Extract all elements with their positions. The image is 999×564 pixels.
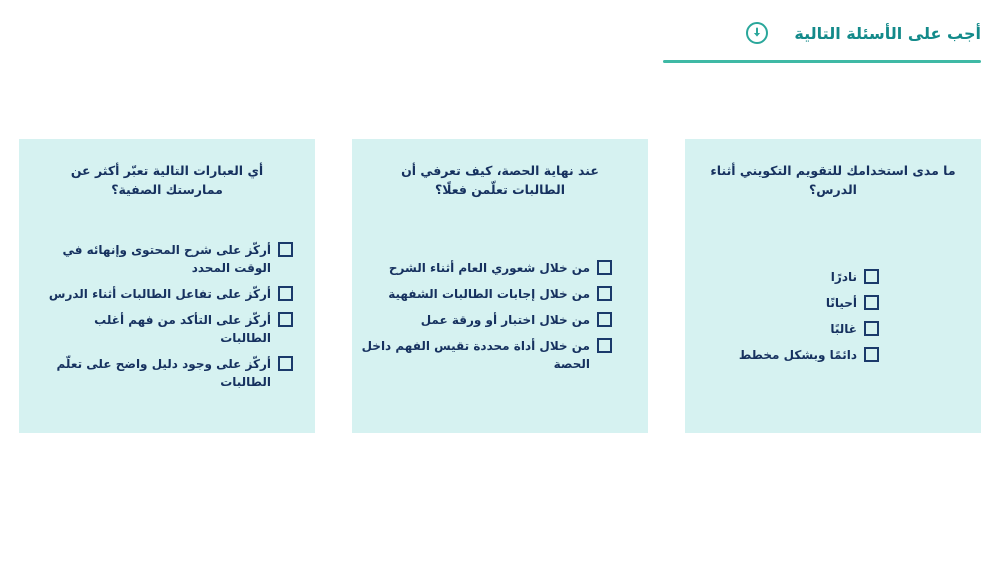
checkbox-icon[interactable] bbox=[597, 312, 612, 327]
circle-down-arrow-icon[interactable] bbox=[746, 22, 768, 44]
checkbox-icon[interactable] bbox=[864, 321, 879, 336]
option-row[interactable]: من خلال اختبار أو ورقة عمل bbox=[360, 311, 612, 329]
question-text: عند نهاية الحصة، كيف تعرفي أن الطالبات ت… bbox=[374, 161, 626, 200]
option-row[interactable]: من خلال إجابات الطالبات الشفهية bbox=[360, 285, 612, 303]
option-label: غالبًا bbox=[830, 320, 857, 338]
option-row[interactable]: دائمًا وبشكل مخطط bbox=[627, 346, 879, 364]
option-row[interactable]: أركّز على وجود دليل واضح على تعلّم الطال… bbox=[41, 355, 293, 391]
option-row[interactable]: غالبًا bbox=[627, 320, 879, 338]
option-row[interactable]: من خلال شعوري العام أثناء الشرح bbox=[360, 259, 612, 277]
option-row[interactable]: أركّز على تفاعل الطالبات أثناء الدرس bbox=[41, 285, 293, 303]
checkbox-icon[interactable] bbox=[278, 356, 293, 371]
option-label: من خلال اختبار أو ورقة عمل bbox=[360, 311, 590, 329]
option-label: أحيانًا bbox=[826, 294, 857, 312]
options-list: نادرًا أحيانًا غالبًا دائمًا وبشكل مخطط bbox=[627, 268, 959, 364]
question-cards-row: ما مدى استخدامك للتقويم التكويني أثناء ا… bbox=[19, 139, 981, 433]
checkbox-icon[interactable] bbox=[278, 286, 293, 301]
option-row[interactable]: أحيانًا bbox=[627, 294, 879, 312]
option-label: نادرًا bbox=[831, 268, 857, 286]
option-label: أركّز على التأكد من فهم أغلب الطالبات bbox=[41, 311, 271, 347]
options-list: من خلال شعوري العام أثناء الشرح من خلال … bbox=[360, 259, 626, 373]
checkbox-icon[interactable] bbox=[864, 269, 879, 284]
question-card-evidence: عند نهاية الحصة، كيف تعرفي أن الطالبات ت… bbox=[352, 139, 648, 433]
question-card-practice: أي العبارات التالية تعبّر أكثر عن ممارست… bbox=[19, 139, 315, 433]
option-label: دائمًا وبشكل مخطط bbox=[739, 346, 857, 364]
checkbox-icon[interactable] bbox=[597, 260, 612, 275]
option-label: أركّز على تفاعل الطالبات أثناء الدرس bbox=[41, 285, 271, 303]
checkbox-icon[interactable] bbox=[278, 242, 293, 257]
checkbox-icon[interactable] bbox=[278, 312, 293, 327]
option-row[interactable]: نادرًا bbox=[627, 268, 879, 286]
checkbox-icon[interactable] bbox=[597, 338, 612, 353]
header-divider bbox=[663, 60, 981, 63]
option-row[interactable]: من خلال أداة محددة تقيس الفهم داخل الحصة bbox=[360, 337, 612, 373]
checkbox-icon[interactable] bbox=[864, 295, 879, 310]
question-card-scale: ما مدى استخدامك للتقويم التكويني أثناء ا… bbox=[685, 139, 981, 433]
question-text: أي العبارات التالية تعبّر أكثر عن ممارست… bbox=[41, 161, 293, 200]
question-text: ما مدى استخدامك للتقويم التكويني أثناء ا… bbox=[707, 161, 959, 200]
option-label: أركّز على وجود دليل واضح على تعلّم الطال… bbox=[41, 355, 271, 391]
option-label: من خلال شعوري العام أثناء الشرح bbox=[360, 259, 590, 277]
option-row[interactable]: أركّز على التأكد من فهم أغلب الطالبات bbox=[41, 311, 293, 347]
checkbox-icon[interactable] bbox=[597, 286, 612, 301]
checkbox-icon[interactable] bbox=[864, 347, 879, 362]
options-list: أركّز على شرح المحتوى وإنهائه في الوقت ا… bbox=[41, 241, 293, 391]
page-title: أجب على الأسئلة التالية bbox=[794, 24, 981, 43]
option-label: من خلال أداة محددة تقيس الفهم داخل الحصة bbox=[360, 337, 590, 373]
option-label: أركّز على شرح المحتوى وإنهائه في الوقت ا… bbox=[41, 241, 271, 277]
page-header: أجب على الأسئلة التالية bbox=[663, 22, 981, 44]
option-label: من خلال إجابات الطالبات الشفهية bbox=[360, 285, 590, 303]
option-row[interactable]: أركّز على شرح المحتوى وإنهائه في الوقت ا… bbox=[41, 241, 293, 277]
